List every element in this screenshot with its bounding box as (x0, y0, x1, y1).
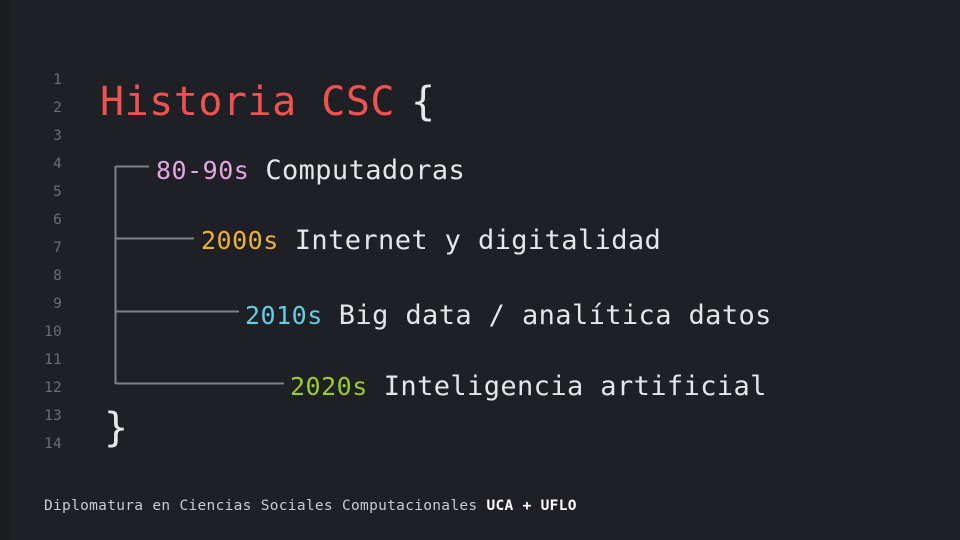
footer-program-name: Diplomatura en Ciencias Sociales Computa… (44, 498, 477, 514)
timeline-decade-label: 2010s (245, 301, 323, 330)
timeline-description: Computadoras (265, 155, 465, 186)
timeline-description: Big data / analítica datos (339, 300, 772, 331)
code-block: Historia CSC{ 80-90sComputadoras 2000sIn… (0, 0, 960, 470)
timeline-description: Internet y digitalidad (295, 225, 661, 256)
page-title-keyword: Historia CSC (100, 79, 395, 125)
timeline-decade-label: 2000s (201, 226, 279, 255)
timeline-description: Inteligencia artificial (384, 371, 767, 402)
close-brace: } (104, 406, 128, 450)
open-brace: { (411, 79, 436, 125)
slide-root: 1 2 3 4 5 6 7 8 9 10 11 12 13 14 Histori… (0, 0, 960, 540)
timeline-row: 2010sBig data / analítica datos (245, 299, 772, 336)
footer-institutions: UCA + UFLO (486, 498, 576, 514)
page-title: Historia CSC{ (100, 80, 436, 124)
timeline-row: 2020sInteligencia artificial (290, 370, 767, 407)
timeline-decade-label: 80-90s (156, 156, 249, 185)
timeline-decade-label: 2020s (290, 372, 368, 401)
footer: Diplomatura en Ciencias Sociales Computa… (44, 498, 577, 514)
timeline-row: 2000sInternet y digitalidad (201, 224, 661, 261)
timeline-row: 80-90sComputadoras (156, 154, 465, 191)
